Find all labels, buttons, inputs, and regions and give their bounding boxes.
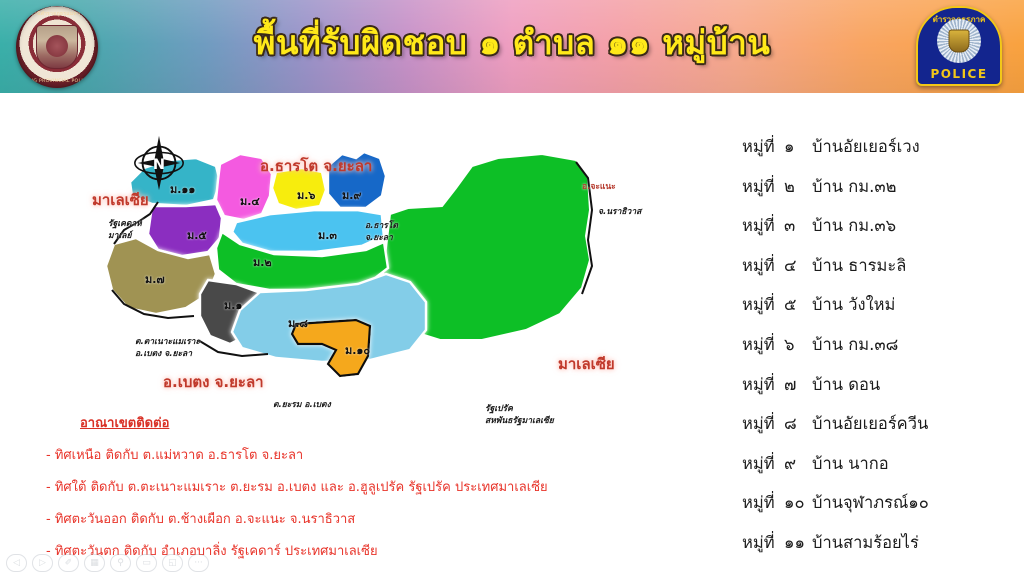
- grid-icon: ▦: [90, 558, 99, 568]
- emblem-ring-text-bottom: BETONG PROVINCIAL POLICE STATION: [16, 79, 98, 84]
- more-options-button[interactable]: ···: [188, 554, 209, 572]
- village-name: บ้าน กม.๓๖: [812, 213, 896, 239]
- map-small-label-tanohmaero-betong: ต.ตาเนาะแมเราะอ.เบตง จ.ยะลา: [135, 336, 200, 361]
- village-number: ๘: [784, 411, 812, 437]
- triangle-right-icon: ▷: [39, 558, 46, 568]
- village-name: บ้านสามร้อยไร่: [812, 530, 919, 556]
- map-place-label-betong-yala: อ.เบตง จ.ยะลา: [163, 370, 264, 394]
- village-list-item: หมู่ที่๓บ้าน กม.๓๖: [742, 213, 1014, 239]
- map-small-label-narathiwat: จ.นราธิวาส: [598, 206, 641, 218]
- village-prefix: หมู่ที่: [742, 530, 784, 556]
- village-list-item: หมู่ที่๔บ้าน ธารมะลิ: [742, 253, 1014, 279]
- map-place-label-tharnto-yala: อ.ธารโต จ.ยะลา: [260, 154, 372, 178]
- village-list-item: หมู่ที่๕บ้าน วังใหม่: [742, 292, 1014, 318]
- village-number: ๕: [784, 292, 812, 318]
- village-prefix: หมู่ที่: [742, 372, 784, 398]
- boundary-line: - ทิศเหนือ ติดกับ ต.แม่หวาด อ.ธารโต จ.ยะ…: [46, 444, 706, 465]
- village-list-item: หมู่ที่๑๑บ้านสามร้อยไร่: [742, 530, 1014, 556]
- village-list-item: หมู่ที่๑๐บ้านจุฬาภรณ์๑๐: [742, 490, 1014, 516]
- village-name: บ้าน กม.๓๒: [812, 174, 897, 200]
- boundary-title: อาณาเขตติดต่อ: [80, 412, 706, 433]
- pen-tool-button[interactable]: ✐: [58, 554, 79, 572]
- media-off-button[interactable]: ◱: [162, 554, 183, 572]
- village-name: บ้าน ธารมะลิ: [812, 253, 906, 279]
- village-list-item: หมู่ที่๘บ้านอัยเยอร์ควีน: [742, 411, 1014, 437]
- caption-button[interactable]: ▭: [136, 554, 157, 572]
- village-list: หมู่ที่๑บ้านอัยเยอร์เวงหมู่ที่๒บ้าน กม.๓…: [742, 134, 1014, 570]
- map-place-label-malaysia-left: มาเลเซีย: [92, 188, 149, 212]
- compass-rose-icon: N: [130, 134, 188, 192]
- camera-off-icon: ◱: [168, 558, 177, 568]
- royal-thai-police-badge-icon: ตำรวจภูธรภาค ๙ POLICE: [916, 6, 1002, 86]
- village-prefix: หมู่ที่: [742, 253, 784, 279]
- village-number: ๗: [784, 372, 812, 398]
- district-map: N ม.๑๑ม.๔ม.๖ม.๙ม.๕ม.๓ม.๒ม.๗ม.๑ม.๘ม.๑๐ อ.…: [90, 118, 710, 418]
- pen-icon: ✐: [65, 558, 73, 568]
- boundary-line: - ทิศใต้ ติดกับ ต.ตะเนาะแมเราะ ต.ยะรม อ.…: [46, 476, 706, 497]
- village-list-item: หมู่ที่๖บ้าน กม.๓๘: [742, 332, 1014, 358]
- village-name: บ้านอัยเยอร์เวง: [812, 134, 920, 160]
- map-region-moo-3: [232, 210, 384, 252]
- village-prefix: หมู่ที่: [742, 292, 784, 318]
- village-prefix: หมู่ที่: [742, 490, 784, 516]
- page-title: พื้นที่รับผิดชอบ ๑ ตำบล ๑๑ หมู่บ้าน: [0, 16, 1024, 69]
- village-number: ๖: [784, 332, 812, 358]
- village-number: ๑๑: [784, 530, 812, 556]
- slide-grid-button[interactable]: ▦: [84, 554, 105, 572]
- badge-bottom-text: POLICE: [918, 67, 1000, 81]
- zoom-button[interactable]: ⚲: [110, 554, 131, 572]
- village-list-item: หมู่ที่๙บ้าน นากอ: [742, 451, 1014, 477]
- village-list-item: หมู่ที่๒บ้าน กม.๓๒: [742, 174, 1014, 200]
- village-number: ๙: [784, 451, 812, 477]
- triangle-left-icon: ◁: [13, 558, 20, 568]
- village-name: บ้าน นากอ: [812, 451, 889, 477]
- village-prefix: หมู่ที่: [742, 174, 784, 200]
- village-prefix: หมู่ที่: [742, 411, 784, 437]
- boundary-lines: - ทิศเหนือ ติดกับ ต.แม่หวาด อ.ธารโต จ.ยะ…: [46, 444, 706, 561]
- village-list-item: หมู่ที่๑บ้านอัยเยอร์เวง: [742, 134, 1014, 160]
- svg-text:N: N: [153, 157, 165, 173]
- ellipsis-icon: ···: [194, 558, 203, 568]
- village-number: ๔: [784, 253, 812, 279]
- map-small-label-yarom-betong: ต.ยะรม อ.เบตง: [273, 399, 331, 411]
- subtitle-icon: ▭: [142, 558, 151, 568]
- village-prefix: หมู่ที่: [742, 134, 784, 160]
- village-list-item: หมู่ที่๗บ้าน ดอน: [742, 372, 1014, 398]
- village-prefix: หมู่ที่: [742, 213, 784, 239]
- map-region-moo-5: [148, 204, 222, 256]
- village-name: บ้าน ดอน: [812, 372, 880, 398]
- village-number: ๓: [784, 213, 812, 239]
- presentation-slide: สถานีตำรวจภูธรแม่หวาด BETONG PROVINCIAL …: [0, 0, 1024, 576]
- magnifier-icon: ⚲: [117, 558, 124, 568]
- boundary-line: - ทิศตะวันออก ติดกับ ต.ช้างเผือก อ.จะแนะ…: [46, 508, 706, 529]
- village-prefix: หมู่ที่: [742, 451, 784, 477]
- header-banner: สถานีตำรวจภูธรแม่หวาด BETONG PROVINCIAL …: [0, 0, 1024, 93]
- village-name: บ้าน วังใหม่: [812, 292, 895, 318]
- village-name: บ้าน กม.๓๘: [812, 332, 898, 358]
- map-place-label-malaysia-right: มาเลเซีย: [558, 352, 615, 376]
- previous-slide-button[interactable]: ◁: [6, 554, 27, 572]
- village-number: ๑๐: [784, 490, 812, 516]
- boundary-description: อาณาเขตติดต่อ - ทิศเหนือ ติดกับ ต.แม่หวา…: [46, 412, 706, 572]
- map-small-label-tharnto-yala-sm: อ.ธารโตจ.ยะลา: [365, 220, 398, 245]
- map-small-label-kedah-malay: รัฐเคดาห์มาเลย์: [108, 218, 142, 243]
- village-name: บ้านจุฬาภรณ์๑๐: [812, 490, 929, 516]
- badge-star-icon: [937, 19, 981, 63]
- village-number: ๑: [784, 134, 812, 160]
- village-prefix: หมู่ที่: [742, 332, 784, 358]
- presentation-toolbar[interactable]: ◁▷✐▦⚲▭◱···: [6, 554, 209, 572]
- map-small-label-chanae: อ.จะแนะ: [582, 181, 616, 193]
- village-number: ๒: [784, 174, 812, 200]
- village-name: บ้านอัยเยอร์ควีน: [812, 411, 928, 437]
- next-slide-button[interactable]: ▷: [32, 554, 53, 572]
